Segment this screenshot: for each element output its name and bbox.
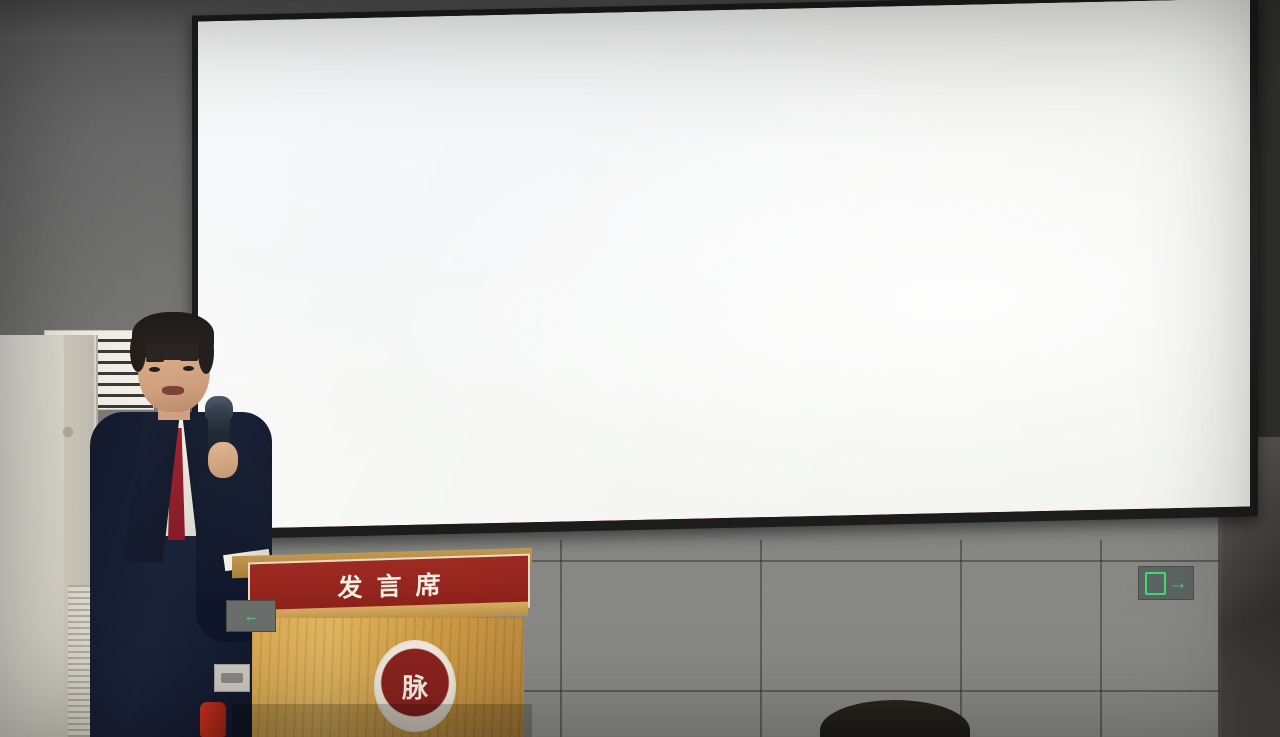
podium-emblem-glyph: 脉: [402, 668, 428, 705]
speaker-podium: 发言席 脉: [232, 546, 532, 737]
left-banner: 聚焦学习力提升: [310, 262, 642, 329]
power-outlet[interactable]: [214, 664, 250, 692]
presenter-hand: [208, 442, 238, 478]
right-photo-collage: 06:42 2022/09/16 周五: [710, 123, 1230, 356]
photo-teachers-reviewing: [424, 124, 646, 251]
photo-timestamp-right: 06:42 2022/09/16 周五: [717, 223, 777, 242]
seal-glyph: 脉: [1042, 78, 1058, 94]
presentation-slide: “责任·自主” 式管理回顾 工作亮点 脉 南昌聚仁高级中学 Nan Chang …: [198, 0, 1250, 529]
footer-slogan: 立时代潮头 创教育典范: [1033, 485, 1198, 506]
photo-students-lab: [212, 129, 426, 260]
ac-brand-badge: [58, 424, 78, 440]
projection-screen: “责任·自主” 式管理回顾 工作亮点 脉 南昌聚仁高级中学 Nan Chang …: [192, 0, 1258, 540]
school-logo: 脉 南昌聚仁高级中学 Nan Chang Ju Ren Senior High …: [1029, 61, 1232, 107]
left-arrow-icon: ←: [244, 609, 259, 624]
wall-tile-seam: [560, 540, 562, 737]
slide-title: “责任·自主” 式管理回顾: [250, 20, 541, 62]
presenter-hair-side: [130, 330, 146, 372]
photo-scene: “责任·自主” 式管理回顾 工作亮点 脉 南昌聚仁高级中学 Nan Chang …: [0, 0, 1280, 737]
wall-tile-seam: [1100, 540, 1102, 737]
running-person-icon: [1145, 572, 1166, 595]
presenter-eye: [183, 366, 194, 371]
wall-tile-seam: [760, 540, 762, 737]
right-banner-label: 狠抓一日常规: [944, 273, 1076, 303]
screen-surface: “责任·自主” 式管理回顾 工作亮点 脉 南昌聚仁高级中学 Nan Chang …: [198, 0, 1250, 529]
wall-tile-seam: [960, 540, 962, 737]
photo-classroom-teaching: [916, 133, 1134, 246]
photo-morning-assembly: 06:42 2022/09/16 周五: [710, 130, 918, 249]
presenter-mouth: [162, 386, 184, 395]
left-badge-letter: E: [469, 358, 484, 384]
presenter-hair-side: [198, 330, 214, 374]
fire-extinguisher: [200, 702, 226, 737]
podium-sign-label: 发言席: [323, 565, 454, 605]
podium-shadow: [232, 704, 532, 737]
school-seal-icon: 脉: [1029, 64, 1071, 107]
school-name: 南昌聚仁高级中学 Nan Chang Ju Ren Senior High Sc…: [1079, 70, 1232, 97]
exit-sign-left: ←: [226, 600, 276, 632]
left-photo-collage: 07:09 2022/09/15 周四: [212, 124, 642, 373]
presenter-brow: [180, 357, 198, 361]
presenter-eye: [149, 367, 160, 372]
air-conditioner-unit: [0, 335, 98, 737]
presenter-brow: [146, 358, 164, 362]
right-arrow-icon: →: [1169, 574, 1188, 593]
right-banner: 狠抓一日常规: [870, 257, 1150, 319]
left-banner-label: 聚焦学习力提升: [399, 280, 553, 310]
exit-sign-right: →: [1138, 566, 1194, 600]
right-badge-letter: F: [1003, 349, 1016, 375]
